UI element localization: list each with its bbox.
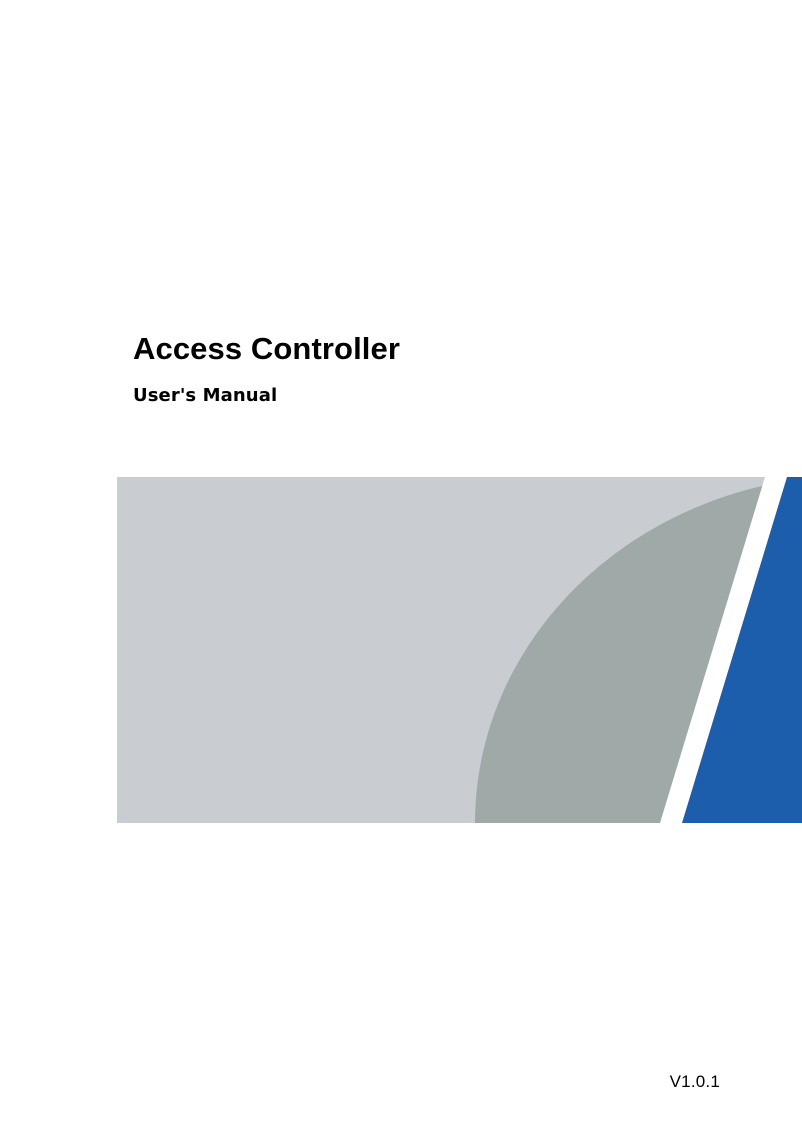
title-block: Access Controller User's Manual bbox=[133, 330, 693, 407]
banner-shapes bbox=[117, 477, 802, 823]
cover-banner-graphic bbox=[117, 477, 802, 823]
version-line: V1.0.1 bbox=[0, 1071, 802, 1093]
page-title: Access Controller bbox=[133, 330, 693, 368]
page-subtitle: User's Manual bbox=[133, 368, 693, 407]
cover-page: Access Controller User's Manual bbox=[0, 0, 802, 1134]
version-label: V1.0.1 bbox=[670, 1072, 720, 1091]
